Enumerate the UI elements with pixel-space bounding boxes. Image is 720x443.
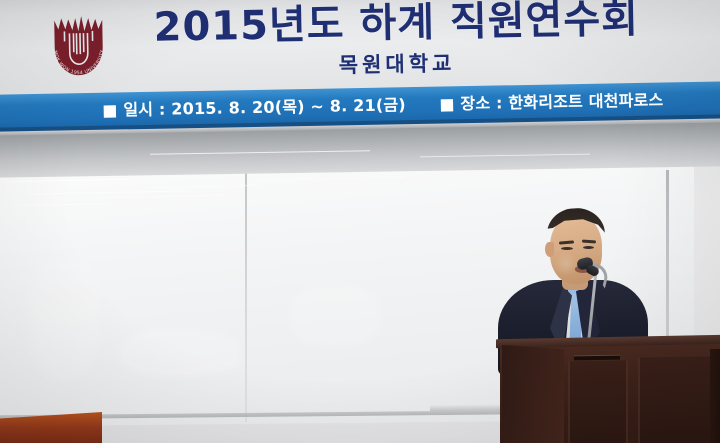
whiteboard-glare	[120, 330, 240, 376]
whiteboard-glare	[290, 286, 380, 346]
whiteboard-glare	[30, 260, 100, 380]
podium-right-edge	[710, 349, 720, 443]
face-highlight	[554, 252, 578, 276]
podium-side-face	[502, 345, 564, 443]
eye	[561, 247, 573, 250]
podium	[496, 337, 720, 443]
podium-handle-slot	[574, 355, 620, 361]
banner-venue-text: ■ 장소 : 한화리조트 대천파로스	[439, 90, 663, 113]
whiteboard-seam	[245, 170, 247, 422]
banner-date-text: ■ 일시 : 2015. 8. 20(목) ~ 8. 21(금)	[102, 95, 406, 120]
eye	[583, 246, 594, 249]
podium-panel	[638, 354, 714, 443]
podium-panel	[568, 358, 628, 443]
ear	[545, 242, 554, 257]
event-photograph: MOK WON 1954 UNIVERSITY 2015년도 하계 직원연수회 …	[0, 0, 720, 443]
event-banner: MOK WON 1954 UNIVERSITY 2015년도 하계 직원연수회 …	[0, 0, 720, 139]
